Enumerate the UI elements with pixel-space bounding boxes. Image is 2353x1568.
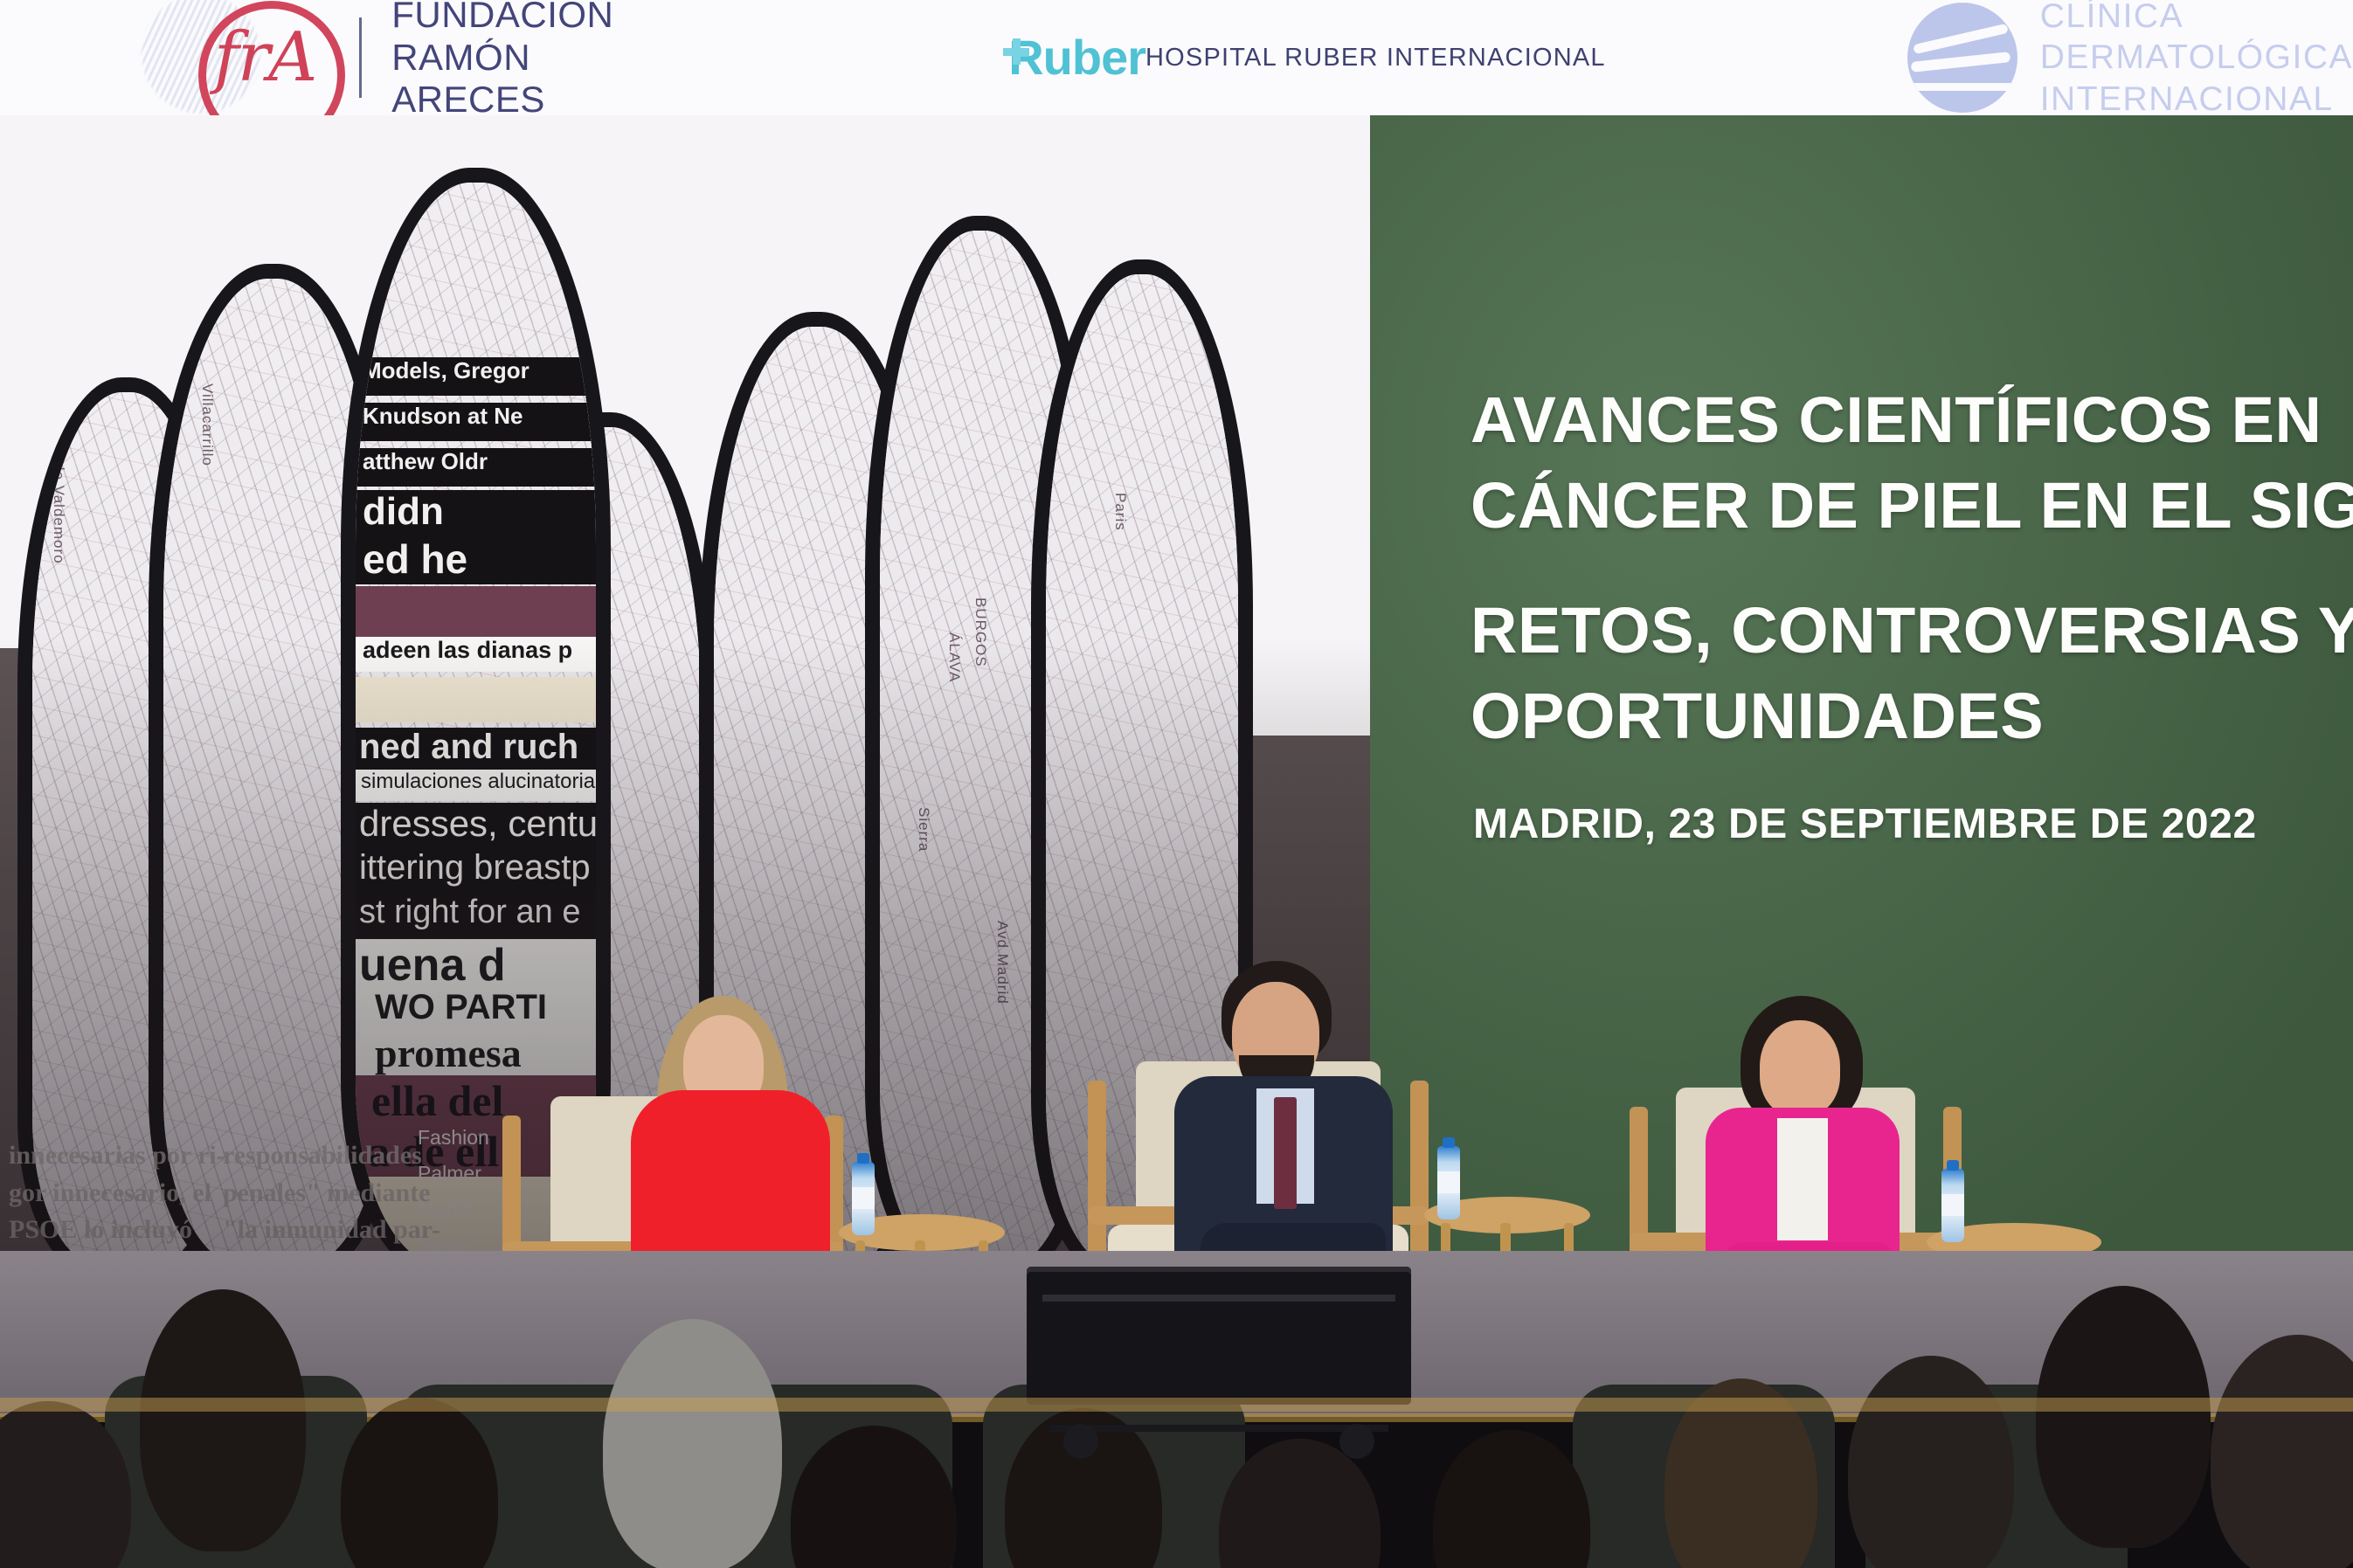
clipping-line: atthew Oldr: [356, 448, 603, 487]
logo-hospital-ruber-internacional: Ruber HOSPITAL RUBER INTERNACIONAL: [1008, 33, 1605, 82]
ruber-wordmark: Ruber: [1008, 33, 1145, 82]
ruber-subtitle: HOSPITAL RUBER INTERNACIONAL: [1145, 44, 1606, 73]
sponsor-logo-bar: frA FUNDACIÓN RAMÓN ARECES Ruber HOSPITA…: [0, 0, 2353, 115]
clipping-line: WO PARTI: [356, 988, 611, 1030]
clipping-line: ittering breastp: [356, 848, 599, 894]
title-line: RETOS, CONTROVERSIAS Y: [1471, 588, 2353, 673]
water-bottle: [852, 1162, 875, 1235]
necktie: [1274, 1097, 1297, 1209]
collage-figure-central: Models, Gregor Knudson at Ne atthew Oldr…: [341, 168, 611, 1251]
clipping-line: ed he: [356, 535, 603, 584]
fra-monogram-mark: frA: [179, 6, 335, 109]
clipping-line: ned and ruch: [356, 728, 599, 770]
title-line: AVANCES CIENTÍFICOS EN: [1471, 377, 2353, 463]
clipping-line: didn: [356, 490, 603, 535]
clipping-band: [356, 586, 603, 637]
clipping-line: uena d: [356, 939, 599, 988]
audience-head: [140, 1289, 306, 1551]
stage-edge-light: [0, 1398, 2353, 1412]
newspaper-column-right: responsabilidades penales" mediante "la …: [223, 1137, 440, 1249]
newspaper-line: PSOE lo incluyó: [9, 1212, 225, 1249]
newspaper-line: penales" mediante: [223, 1175, 440, 1212]
medical-cross-icon: [1003, 38, 1029, 65]
water-bottle: [1437, 1146, 1460, 1219]
clipping-line: Models, Gregor: [356, 357, 603, 396]
title-line: CÁNCER DE PIEL EN EL SIGLO: [1471, 463, 2353, 549]
newspaper-line: "la inmunidad par-: [223, 1212, 440, 1249]
clipping-line: Knudson at Ne: [356, 403, 603, 441]
clipping-line: dresses, centu: [356, 803, 599, 848]
newspaper-line: innecesarias por ri-: [9, 1137, 225, 1175]
water-bottle: [1941, 1169, 1964, 1242]
clipping-line: st right for an e: [356, 894, 599, 939]
slide-date: MADRID, 23 DE SEPTIEMBRE DE 2022: [1473, 800, 2257, 848]
clipping-line: promesa: [356, 1030, 611, 1075]
logo-clinica-dermatologica-internacional: CLÍNICA DERMATOLÓGICA INTERNACIONAL: [1907, 0, 2353, 115]
slide-title: AVANCES CIENTÍFICOS EN CÁNCER DE PIEL EN…: [1471, 377, 2353, 759]
globe-icon: [1907, 3, 2017, 113]
fra-name-text: FUNDACIÓN RAMÓN ARECES: [391, 0, 689, 115]
clipping-band: [356, 677, 596, 722]
audience-head: [1433, 1430, 1590, 1568]
logo-fundacion-ramon-areces: frA FUNDACIÓN RAMÓN ARECES: [179, 0, 689, 115]
audience-head: [603, 1319, 782, 1568]
fra-monogram-text: frA: [198, 24, 315, 92]
conference-photo: frA FUNDACIÓN RAMÓN ARECES Ruber HOSPITA…: [0, 0, 2353, 1568]
audience-head: [2036, 1286, 2211, 1548]
newspaper-column-left: innecesarias por ri- gor innecesario, el…: [9, 1137, 225, 1249]
clipping-line: adeen las dianas p: [356, 637, 603, 672]
clipping-line: simulaciones alucinatoria: [356, 770, 601, 801]
logo-divider: [359, 17, 362, 98]
stage-monitor: [1027, 1267, 1411, 1459]
newspaper-line: responsabilidades: [223, 1137, 440, 1175]
newspaper-line: gor innecesario, el: [9, 1175, 225, 1212]
cdi-name-text: CLÍNICA DERMATOLÓGICA INTERNACIONAL: [2040, 0, 2353, 115]
title-line: OPORTUNIDADES: [1471, 673, 2353, 759]
white-top: [1777, 1118, 1828, 1240]
